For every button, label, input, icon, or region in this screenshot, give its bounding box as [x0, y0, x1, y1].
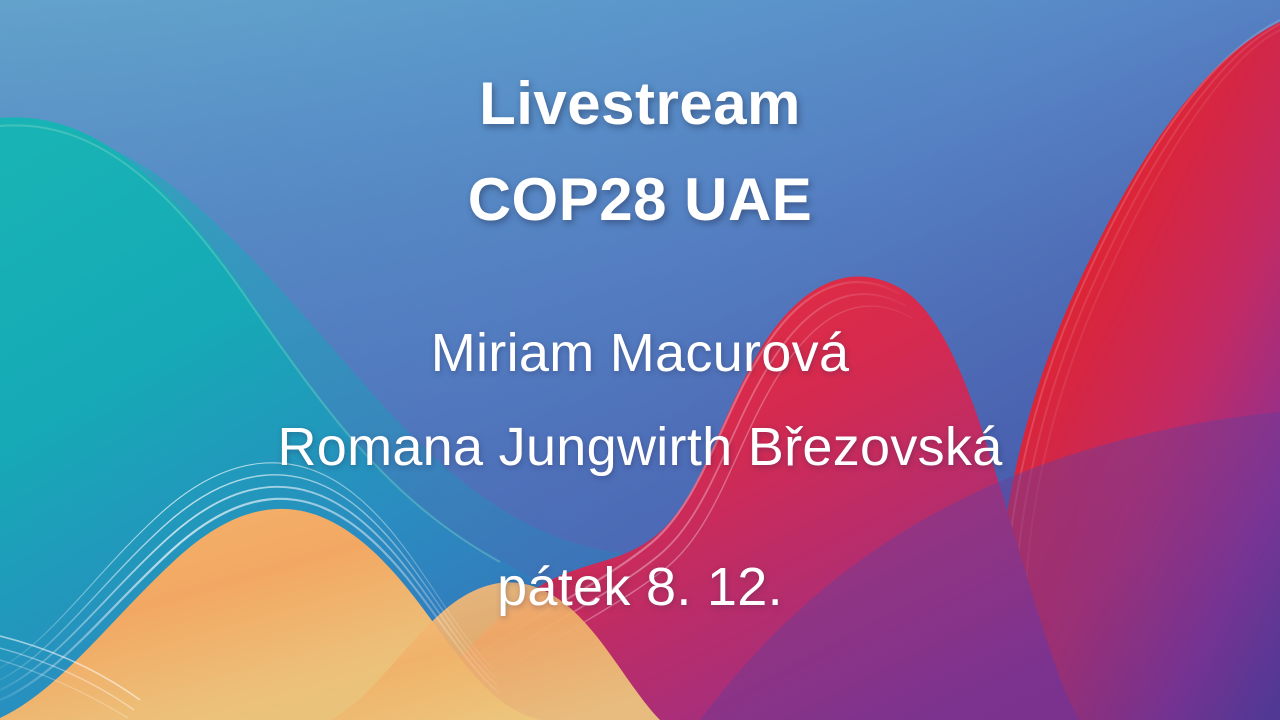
- slide-content: Livestream COP28 UAE Miriam Macurová Rom…: [0, 0, 1280, 720]
- speakers-block: Miriam Macurová Romana Jungwirth Březovs…: [277, 326, 1002, 474]
- event-date: pátek 8. 12.: [497, 560, 783, 614]
- date-block: pátek 8. 12.: [497, 560, 783, 614]
- title-line-2: COP28 UAE: [468, 170, 813, 230]
- title-block: Livestream COP28 UAE: [468, 74, 813, 230]
- speaker-name-2: Romana Jungwirth Březovská: [277, 420, 1002, 474]
- livestream-slide: Livestream COP28 UAE Miriam Macurová Rom…: [0, 0, 1280, 720]
- speaker-name-1: Miriam Macurová: [431, 326, 850, 380]
- title-line-1: Livestream: [479, 74, 801, 134]
